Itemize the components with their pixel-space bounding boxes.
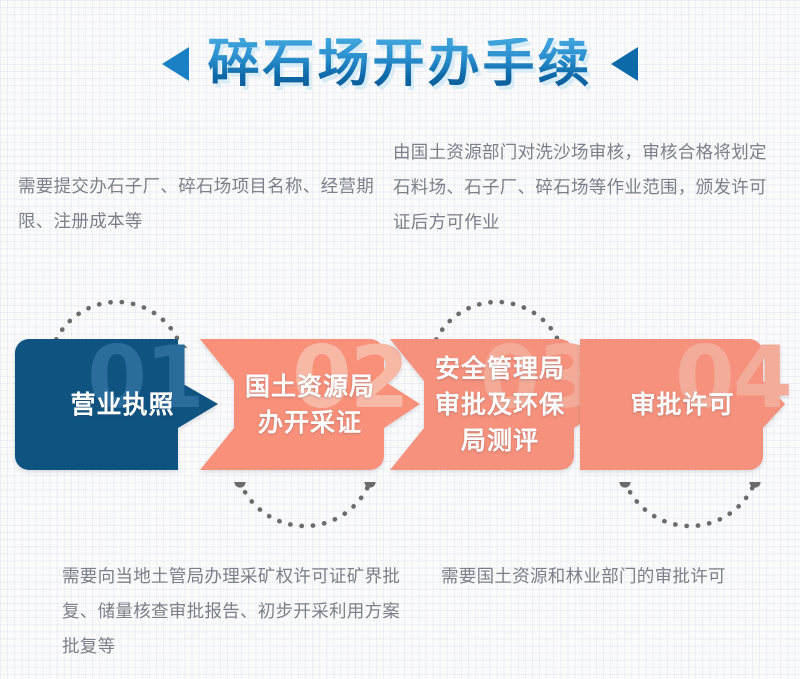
step-box-1[interactable]: 01 营业执照 xyxy=(15,339,230,470)
connector-arc-down-left xyxy=(220,482,390,570)
process-flow: 01 营业执照 02 国土资源局 办开采证 03 安全管理局 审批及环保 局测评… xyxy=(0,339,800,470)
page-title: 碎石场开办手续 xyxy=(207,38,592,90)
step-4-label: 审批许可 xyxy=(622,387,742,423)
note-top-left: 需要提交办石子厂、碎石场项目名称、经营期限、注册成本等 xyxy=(18,170,388,240)
note-bottom-left: 需要向当地土管局办理采矿权许可证矿界批复、储量核查审批报告、初步开采利用方案批复… xyxy=(62,560,412,665)
triangle-left-icon-right xyxy=(611,47,638,81)
step-2-label: 国土资源局 办开采证 xyxy=(237,369,383,441)
step-box-2[interactable]: 02 国土资源局 办开采证 xyxy=(200,339,420,470)
note-top-right: 由国土资源部门对洗沙场审核，审核合格将划定石料场、石子厂、碎石场等作业范围，颁发… xyxy=(393,136,783,241)
connector-arc-down-right xyxy=(605,482,775,570)
triangle-left-icon xyxy=(162,47,189,81)
step-box-3[interactable]: 03 安全管理局 审批及环保 局测评 xyxy=(390,339,610,470)
step-1-label: 营业执照 xyxy=(62,387,182,423)
step-3-label: 安全管理局 审批及环保 局测评 xyxy=(427,351,573,459)
step-box-4[interactable]: 04 审批许可 xyxy=(580,339,785,470)
infographic-canvas: 碎石场开办手续 碎石场开办手续 需要提交办石子厂、碎石场项目名称、经营期限、注册… xyxy=(0,0,800,679)
title-row: 碎石场开办手续 xyxy=(0,18,800,110)
note-bottom-right: 需要国土资源和林业部门的审批许可 xyxy=(441,560,791,595)
